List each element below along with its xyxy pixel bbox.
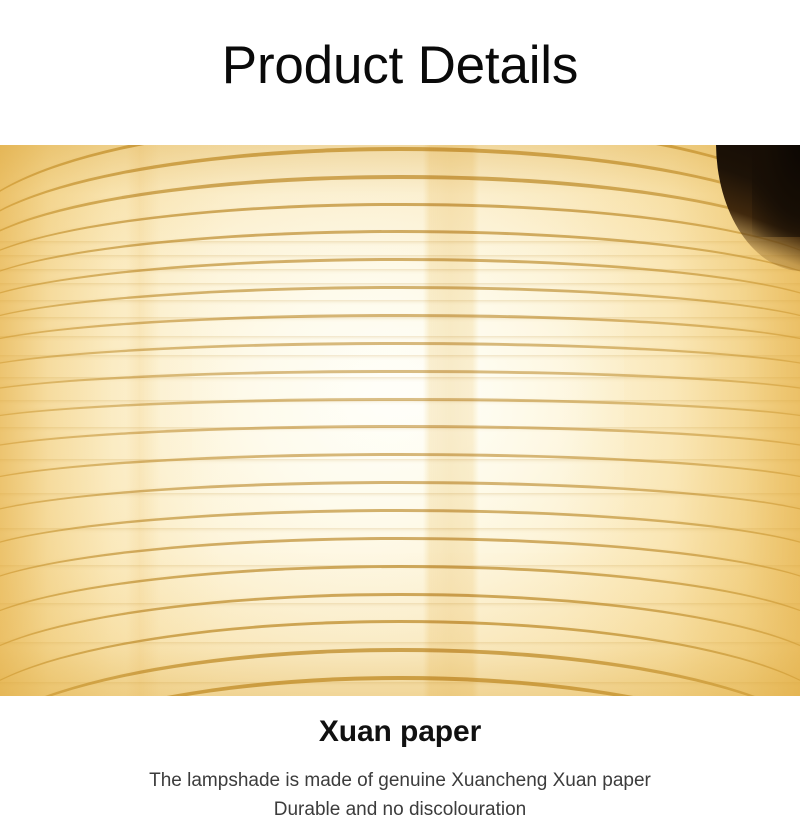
caption-line-1: The lampshade is made of genuine Xuanche… [0,766,800,795]
caption-heading: Xuan paper [0,714,800,750]
caption-line-2: Durable and no discolouration [0,795,800,824]
caption-area: Xuan paper The lampshade is made of genu… [0,696,800,839]
product-details-page: Product Details Xuan paper The lampshade… [0,0,800,839]
page-title: Product Details [222,38,578,94]
product-photo-lantern-closeup [0,145,800,696]
photo-dark-corner-core [752,145,800,237]
photo-vertical-shading [0,145,800,696]
title-area: Product Details [0,0,800,145]
